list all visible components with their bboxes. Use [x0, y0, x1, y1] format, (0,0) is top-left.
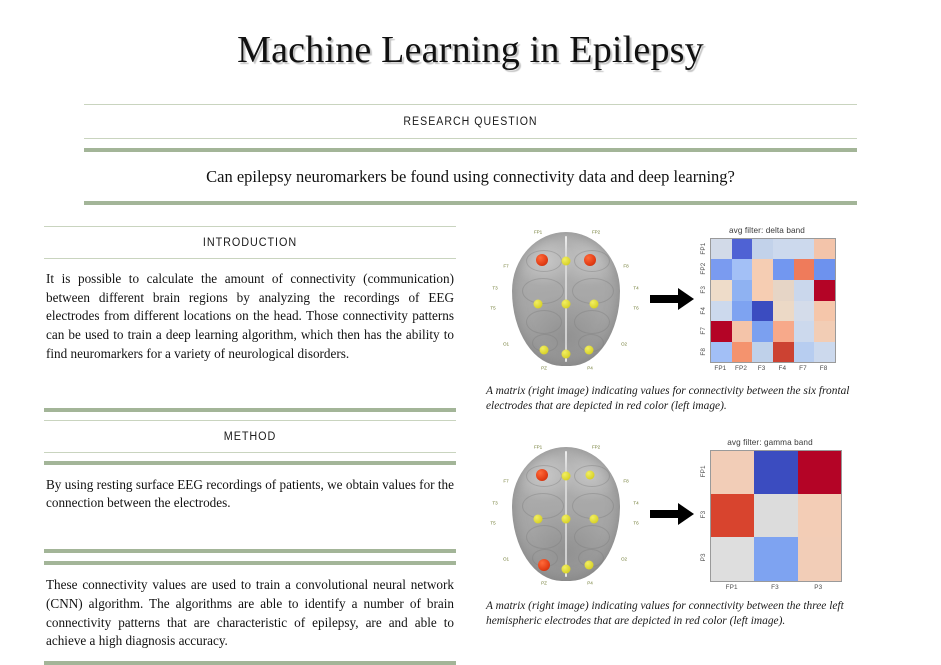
heatmap-x-tick: FP1 [710, 584, 753, 591]
heatmap-y-tick: F3 [698, 279, 710, 300]
heatmap-cell [732, 239, 753, 260]
electrode-c4 [590, 515, 599, 524]
heatmap-cell [773, 321, 794, 342]
heatmap-x-tick: F3 [753, 584, 796, 591]
heatmap-cell [732, 280, 753, 301]
electrode-fp1 [536, 469, 548, 481]
electrode-label-t3: T3 [492, 501, 497, 506]
heatmap-y-tick: F3 [698, 493, 710, 536]
electrode-pz [562, 565, 571, 574]
heatmap-cell [814, 321, 835, 342]
heatmap-x-tick: FP2 [731, 365, 752, 372]
figure-gamma-band: FP1 FP2 F7 F8 T3 T4 T5 T6 O1 O2 PZ P4 av… [486, 435, 906, 628]
electrode-p3 [540, 346, 549, 355]
heatmap-cell [773, 342, 794, 363]
heatmap-cell [711, 301, 732, 322]
electrode-p3 [538, 559, 550, 571]
research-question-text: Can epilepsy neuromarkers be found using… [84, 152, 857, 201]
electrode-fp2 [584, 254, 596, 266]
heatmap-cell [773, 259, 794, 280]
heatmap-cell [752, 321, 773, 342]
heatmap-cell [711, 321, 732, 342]
heatmap-cell [711, 342, 732, 363]
heatmap-cell [711, 280, 732, 301]
heatmap-cell [794, 321, 815, 342]
electrode-label-f7: F7 [503, 264, 508, 269]
heatmap-cell [814, 301, 835, 322]
research-question-heading: RESEARCH QUESTION [115, 105, 826, 138]
page-title: Machine Learning in Epilepsy [0, 28, 941, 72]
heatmap-x-tick: F8 [813, 365, 834, 372]
heatmap-y-tick: F4 [698, 300, 710, 321]
heatmap-cell [754, 494, 797, 537]
heatmap-cell [794, 301, 815, 322]
electrode-label-t4: T4 [633, 286, 638, 291]
divider-thick [84, 201, 857, 205]
electrode-fp2 [586, 471, 595, 480]
heatmap-cell [814, 259, 835, 280]
heatmap-gamma-band: avg filter: gamma band FP1F3P3 FP1F3P3 [698, 438, 842, 591]
heatmap-cell [814, 280, 835, 301]
electrode-label-t3: T3 [492, 286, 497, 291]
electrode-label-f7: F7 [503, 479, 508, 484]
heatmap-cell [814, 342, 835, 363]
heatmap-x-axis: FP1F3P3 [710, 584, 840, 591]
electrode-label-fp2: FP2 [592, 230, 600, 235]
electrode-c4 [590, 300, 599, 309]
electrode-pz [562, 350, 571, 359]
electrode-c3 [534, 515, 543, 524]
arrow-icon [646, 494, 698, 534]
heatmap-cell [798, 451, 841, 494]
right-column: FP1 FP2 F7 F8 T3 T4 T5 T6 O1 O2 PZ P4 av… [486, 220, 906, 628]
heatmap-cell [773, 239, 794, 260]
heatmap-cell [773, 301, 794, 322]
figure-caption: A matrix (right image) indicating values… [486, 384, 886, 413]
electrode-label-fp1: FP1 [534, 230, 542, 235]
section-heading-introduction: INTRODUCTION [56, 227, 443, 258]
section-body-introduction: It is possible to calculate the amount o… [44, 259, 456, 374]
heatmap-cell [732, 342, 753, 363]
electrode-label-f8: F8 [623, 264, 628, 269]
heatmap-title: avg filter: delta band [698, 226, 836, 235]
arrow-icon [646, 279, 698, 319]
electrode-p4 [585, 561, 594, 570]
heatmap-cell [711, 494, 754, 537]
left-column: INTRODUCTION It is possible to calculate… [44, 226, 456, 665]
heatmap-cell [754, 451, 797, 494]
heatmap-delta-band: avg filter: delta band FP1FP2F3F4F7F8 FP… [698, 226, 836, 373]
electrode-cz [562, 300, 571, 309]
electrode-fz [562, 257, 571, 266]
section-body-method-2: These connectivity values are used to tr… [44, 565, 456, 661]
electrode-label-p4: P4 [587, 366, 592, 371]
electrode-label-o2: O2 [621, 557, 627, 562]
heatmap-x-tick: F3 [751, 365, 772, 372]
electrode-fp1 [536, 254, 548, 266]
heatmap-y-tick: F8 [698, 341, 710, 362]
electrode-label-fp2: FP2 [592, 445, 600, 450]
heatmap-cell [732, 301, 753, 322]
heatmap-cell [794, 239, 815, 260]
heatmap-cell [711, 259, 732, 280]
section-body-method: By using resting surface EEG recordings … [44, 465, 456, 523]
heatmap-x-axis: FP1FP2F3F4F7F8 [710, 365, 834, 372]
figure-delta-band: FP1 FP2 F7 F8 T3 T4 T5 T6 O1 O2 PZ P4 av… [486, 220, 906, 413]
heatmap-cell [754, 537, 797, 580]
brain-diagram-left-hemisphere: FP1 FP2 F7 F8 T3 T4 T5 T6 O1 O2 PZ P4 [486, 435, 646, 593]
electrode-label-fp1: FP1 [534, 445, 542, 450]
heatmap-cell [798, 537, 841, 580]
heatmap-y-tick: FP1 [698, 450, 710, 493]
heatmap-title: avg filter: gamma band [698, 438, 842, 447]
electrode-label-o1: O1 [503, 342, 509, 347]
electrode-label-pz: PZ [541, 581, 547, 586]
heatmap-cell [711, 239, 732, 260]
heatmap-x-tick: F7 [793, 365, 814, 372]
brain-diagram-frontal: FP1 FP2 F7 F8 T3 T4 T5 T6 O1 O2 PZ P4 [486, 220, 646, 378]
heatmap-cell [752, 280, 773, 301]
heatmap-cell [752, 342, 773, 363]
electrode-fz [562, 472, 571, 481]
electrode-label-o2: O2 [621, 342, 627, 347]
electrode-label-t5: T5 [490, 521, 495, 526]
heatmap-grid [710, 450, 842, 582]
electrode-p4 [585, 346, 594, 355]
heatmap-y-axis: FP1FP2F3F4F7F8 [698, 238, 710, 362]
heatmap-x-tick: FP1 [710, 365, 731, 372]
electrode-label-t4: T4 [633, 501, 638, 506]
heatmap-cell [732, 259, 753, 280]
research-question-banner: RESEARCH QUESTION Can epilepsy neuromark… [84, 104, 857, 205]
electrode-label-f8: F8 [623, 479, 628, 484]
heatmap-y-axis: FP1F3P3 [698, 450, 710, 580]
heatmap-cell [732, 321, 753, 342]
heatmap-cell [752, 239, 773, 260]
heatmap-cell [711, 537, 754, 580]
heatmap-y-tick: P3 [698, 536, 710, 579]
heatmap-x-tick: F4 [772, 365, 793, 372]
electrode-label-p4: P4 [587, 581, 592, 586]
heatmap-y-tick: FP2 [698, 258, 710, 279]
heatmap-cell [752, 301, 773, 322]
heatmap-cell [711, 451, 754, 494]
electrode-label-o1: O1 [503, 557, 509, 562]
heatmap-cell [794, 280, 815, 301]
heatmap-cell [814, 239, 835, 260]
electrode-label-t6: T6 [633, 521, 638, 526]
heatmap-y-tick: FP1 [698, 238, 710, 259]
heatmap-x-tick: P3 [797, 584, 840, 591]
divider-thick [44, 661, 456, 665]
heatmap-cell [794, 342, 815, 363]
electrode-label-t5: T5 [490, 306, 495, 311]
heatmap-grid [710, 238, 836, 364]
figure-caption: A matrix (right image) indicating values… [486, 599, 886, 628]
electrode-label-t6: T6 [633, 306, 638, 311]
heatmap-cell [773, 280, 794, 301]
electrode-label-pz: PZ [541, 366, 547, 371]
heatmap-cell [752, 259, 773, 280]
section-heading-method: METHOD [56, 421, 443, 452]
electrode-c3 [534, 300, 543, 309]
heatmap-y-tick: F7 [698, 320, 710, 341]
electrode-cz [562, 515, 571, 524]
heatmap-cell [798, 494, 841, 537]
heatmap-cell [794, 259, 815, 280]
